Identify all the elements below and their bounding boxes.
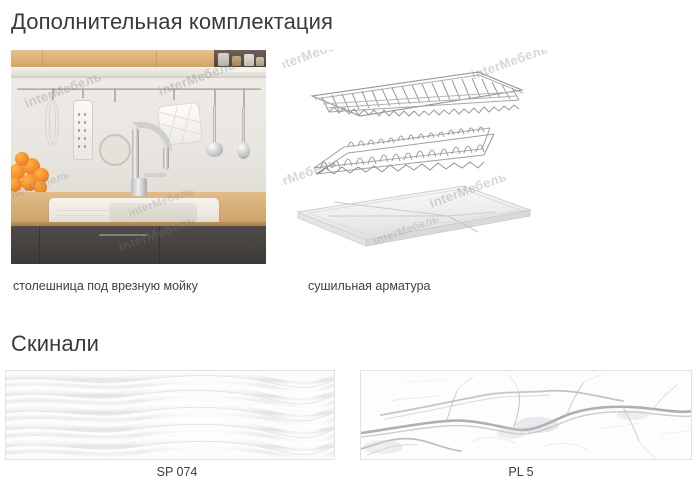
catalog-page: Дополнительная комплектация [0, 0, 700, 500]
jar [244, 54, 254, 66]
spoon-bowl [237, 142, 250, 159]
whisk-icon [49, 102, 56, 144]
dish-rack-illustration [282, 50, 547, 264]
caption-panel-sp074: SP 074 [5, 465, 349, 479]
hook [82, 88, 84, 98]
sieve-icon [99, 134, 131, 166]
marble-veining-pattern [361, 371, 692, 460]
cabinet-handle [99, 234, 147, 236]
open-shelf [214, 50, 266, 68]
hook [114, 88, 116, 102]
jar [232, 56, 241, 66]
section-title-extras: Дополнительная комплектация [11, 9, 333, 35]
cabinet-seam [39, 226, 40, 264]
faucet-lever [144, 173, 166, 177]
caption-drying-rack: сушильная арматура [308, 279, 430, 293]
hook [173, 88, 175, 100]
caption-panel-pl5: PL 5 [349, 465, 693, 479]
ladle-handle [213, 106, 216, 146]
lower-cabinet-front [11, 226, 266, 264]
faucet-neck [132, 128, 139, 183]
jar [218, 53, 229, 66]
faucet-spout [163, 146, 169, 170]
hook [243, 88, 245, 108]
cabinet-seam [156, 50, 157, 67]
cabinet-seam [159, 226, 160, 264]
image-drying-rack[interactable]: interМебель interМебель interМебель inte… [282, 50, 547, 264]
jar [256, 57, 264, 66]
image-worktop-sink[interactable]: interМебель interМебель interМебель inte… [11, 50, 266, 264]
section-title-skinali: Скинали [11, 331, 99, 357]
skinali-panel-sp074[interactable] [5, 370, 335, 460]
wave-relief-pattern [6, 371, 335, 460]
caption-worktop: столешница под врезную мойку [13, 279, 198, 293]
faucet-base [131, 178, 147, 196]
ladle-bowl [206, 142, 223, 157]
grater-icon [73, 100, 93, 160]
sink-bowl [109, 203, 197, 222]
hook [52, 88, 54, 100]
hook [214, 88, 216, 106]
cabinet-seam [42, 50, 43, 67]
utensil-rail [17, 88, 261, 90]
fruit-basket [11, 150, 51, 196]
spoon-handle [242, 108, 245, 146]
skinali-panel-pl5[interactable] [360, 370, 692, 460]
shelf-board [210, 67, 266, 72]
